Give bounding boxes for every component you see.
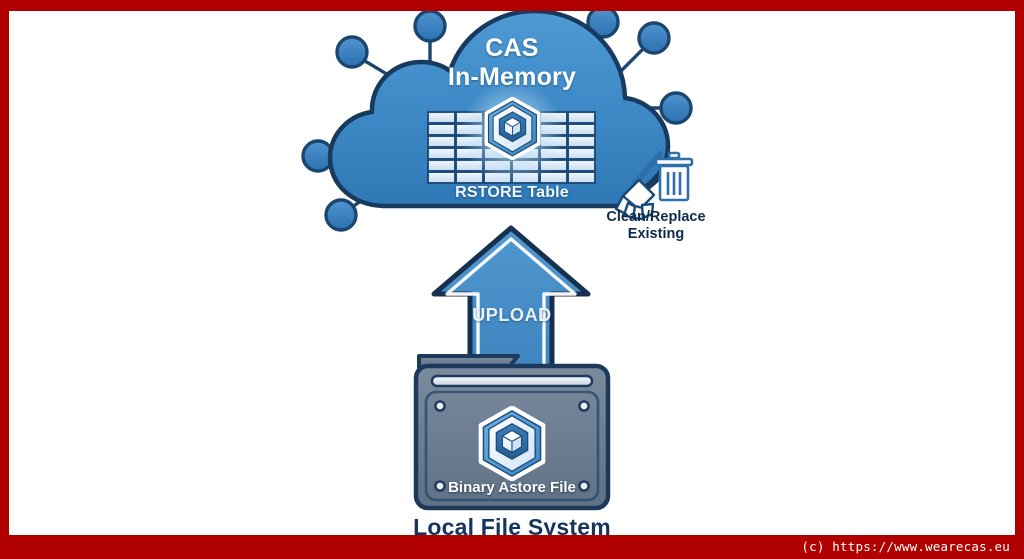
cloud-node-7	[661, 93, 691, 123]
frame-band-right	[1015, 0, 1024, 559]
cloud-node-4	[326, 200, 356, 230]
screw-bottom-right	[579, 481, 588, 490]
frame-band-left	[0, 0, 9, 559]
watermark-text: (c) https://www.wearecas.eu	[801, 535, 1010, 559]
cloud-node-1	[415, 11, 445, 41]
screw-bottom-left	[435, 481, 444, 490]
upload-arrow	[434, 228, 588, 372]
astore-cube-icon-cloud	[486, 98, 538, 158]
cas-upload-diagram	[0, 0, 1024, 559]
trash-can-icon	[656, 153, 692, 200]
astore-cube-icon-folder	[481, 407, 544, 479]
diagram-canvas: CAS In-Memory RSTORE Table Clean/Replace…	[0, 0, 1024, 559]
cloud-node-6	[639, 23, 669, 53]
frame-band-top	[0, 0, 1024, 11]
screw-top-right	[579, 401, 588, 410]
cloud-node-2	[337, 37, 367, 67]
folder-slot	[432, 376, 592, 386]
screw-top-left	[435, 401, 444, 410]
